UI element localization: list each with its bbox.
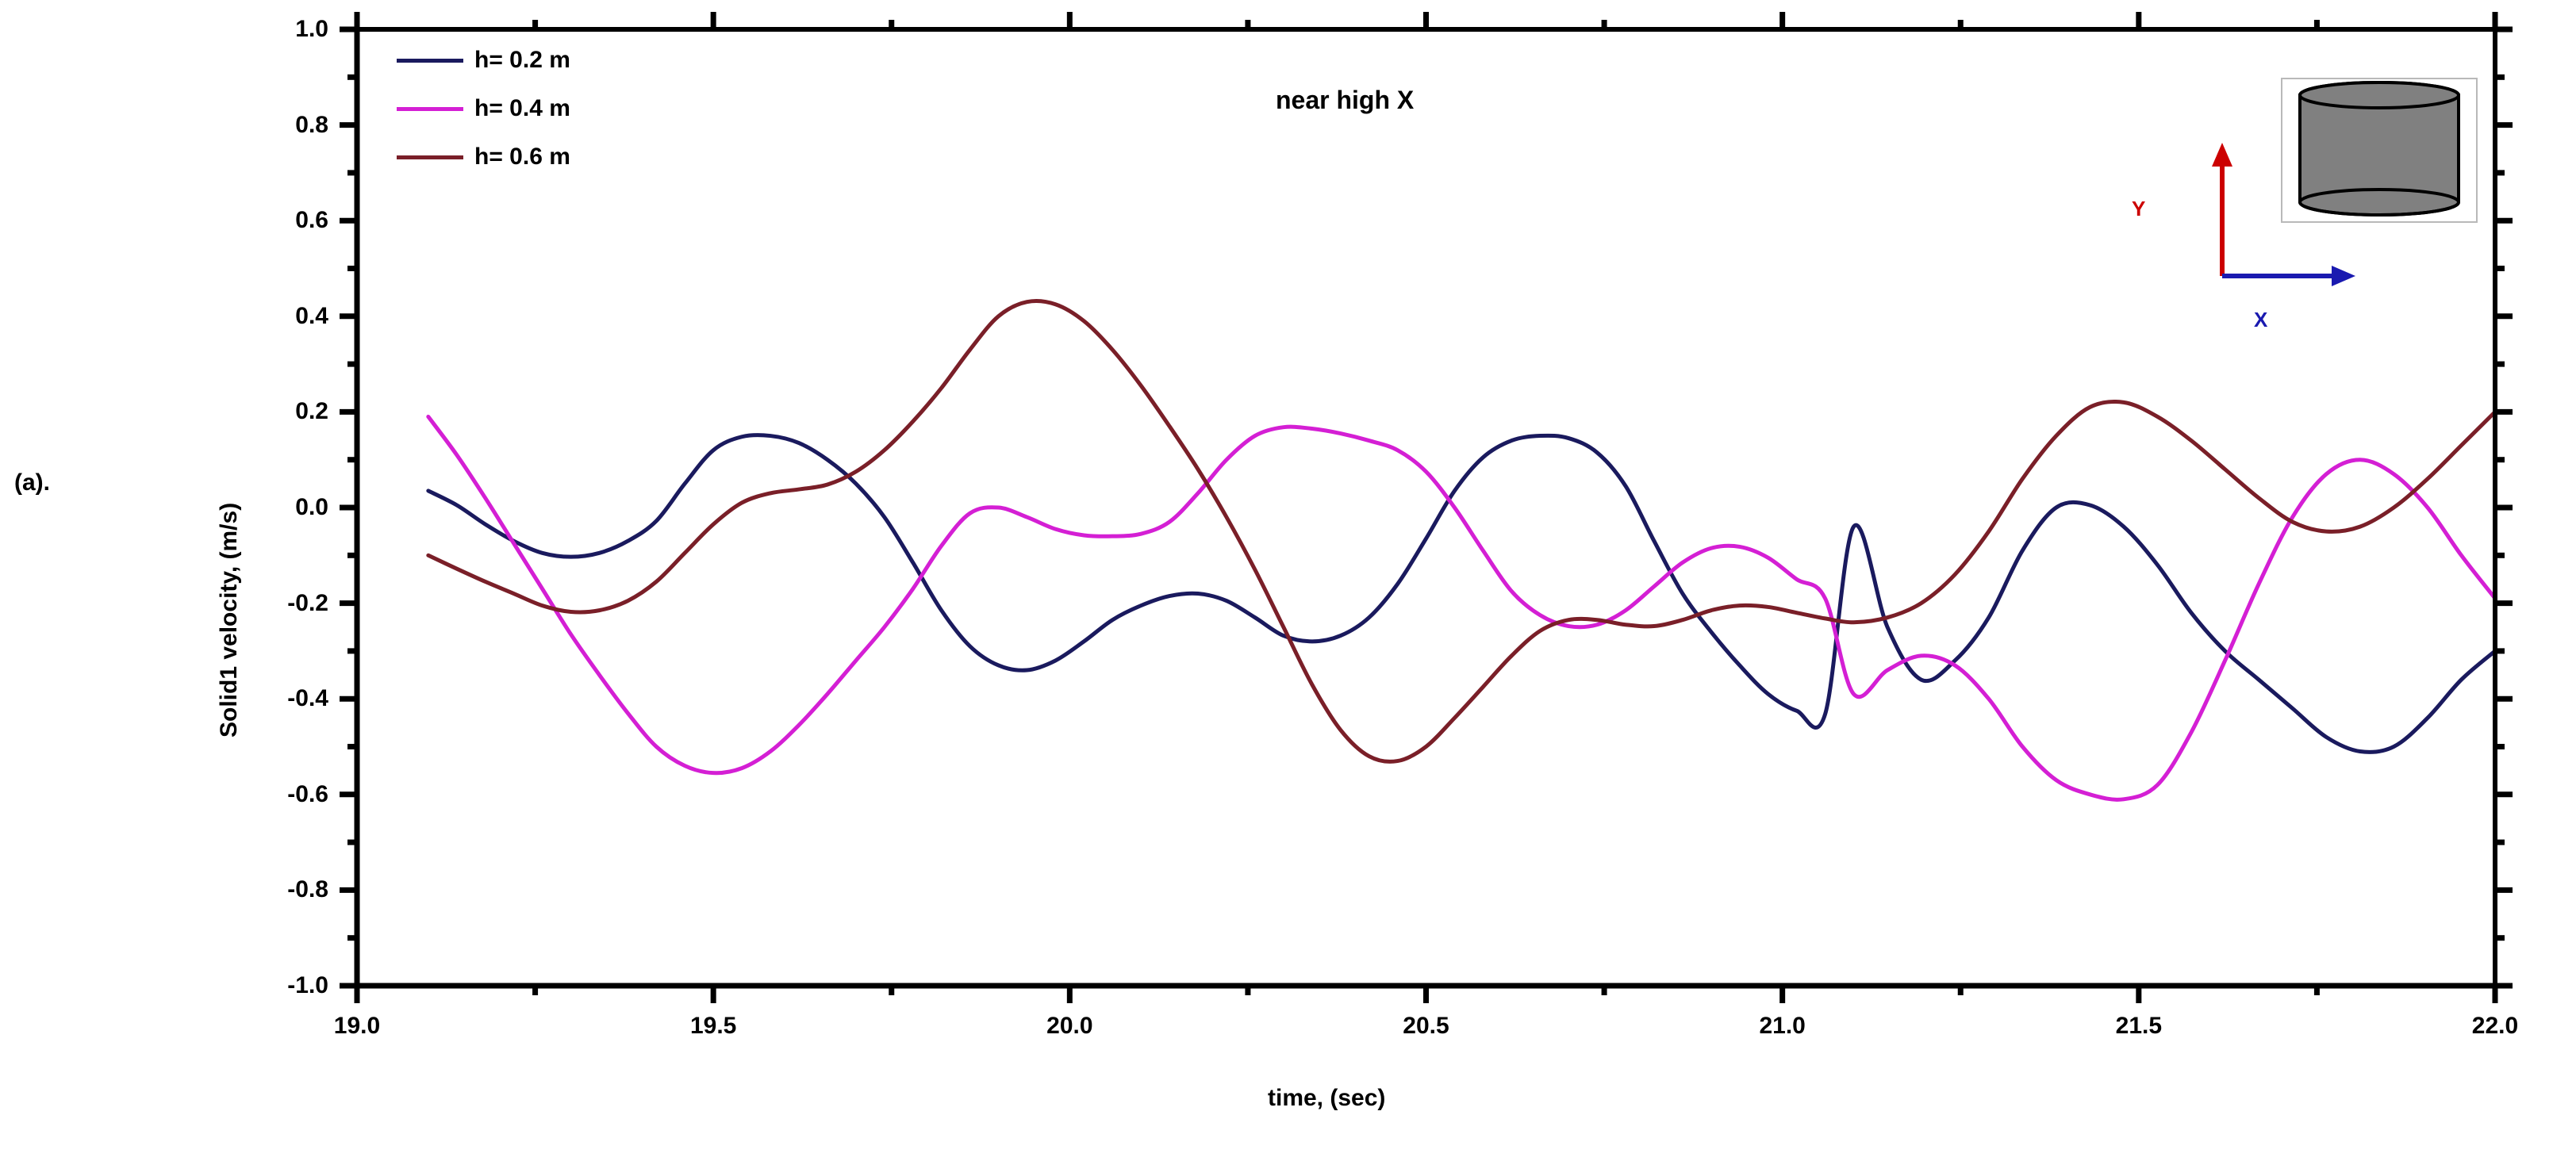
y-tick-label: -0.8 bbox=[287, 876, 328, 903]
x-tick-label: 20.5 bbox=[1403, 1013, 1449, 1040]
y-tick-label: -0.4 bbox=[287, 685, 328, 712]
axes-indicator bbox=[2170, 125, 2392, 308]
x-tick-label: 22.0 bbox=[2472, 1013, 2518, 1040]
figure-container: (a). Solid1 velocity, (m/s) time, (sec) … bbox=[0, 0, 2576, 1161]
legend-swatch bbox=[397, 155, 463, 159]
legend-item[interactable]: h= 0.6 m bbox=[397, 143, 570, 171]
y-tick-label: 0.0 bbox=[295, 494, 328, 521]
series-line-2 bbox=[428, 301, 2495, 761]
y-tick-label: 0.2 bbox=[295, 398, 328, 425]
y-axis-letter: Y bbox=[2132, 197, 2145, 221]
legend-label: h= 0.4 m bbox=[474, 97, 570, 121]
x-tick-label: 19.5 bbox=[690, 1013, 736, 1040]
y-tick-label: 0.6 bbox=[295, 207, 328, 234]
series-line-0 bbox=[428, 435, 2495, 753]
y-tick-label: -0.2 bbox=[287, 590, 328, 617]
legend-item[interactable]: h= 0.2 m bbox=[397, 46, 570, 75]
y-tick-label: 1.0 bbox=[295, 16, 328, 43]
y-tick-label: -0.6 bbox=[287, 781, 328, 808]
y-tick-label: 0.4 bbox=[295, 303, 328, 330]
x-tick-label: 21.5 bbox=[2116, 1013, 2162, 1040]
legend-swatch bbox=[397, 59, 463, 63]
chart-legend: h= 0.2 mh= 0.4 mh= 0.6 m bbox=[397, 46, 570, 171]
series-line-1 bbox=[428, 416, 2495, 799]
legend-label: h= 0.2 m bbox=[474, 48, 570, 72]
x-tick-label: 21.0 bbox=[1759, 1013, 1805, 1040]
y-tick-label: 0.8 bbox=[295, 112, 328, 139]
legend-swatch bbox=[397, 107, 463, 111]
x-tick-label: 19.0 bbox=[334, 1013, 380, 1040]
x-axis-letter: X bbox=[2254, 308, 2267, 332]
legend-label: h= 0.6 m bbox=[474, 145, 570, 169]
y-tick-label: -1.0 bbox=[287, 972, 328, 999]
legend-item[interactable]: h= 0.4 m bbox=[397, 94, 570, 123]
inset-cylinder-diagram: Y X bbox=[2281, 78, 2479, 224]
x-tick-label: 20.0 bbox=[1046, 1013, 1092, 1040]
series-layer bbox=[428, 301, 2495, 799]
